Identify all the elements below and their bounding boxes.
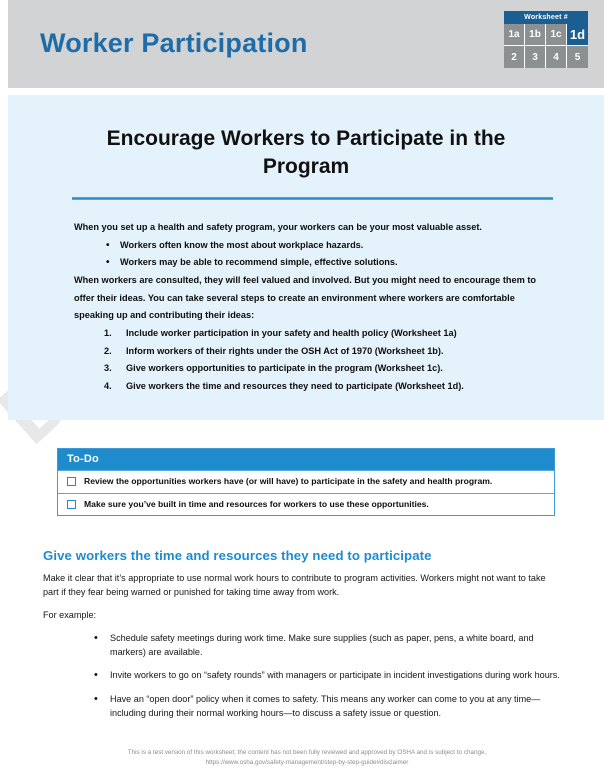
worksheet-heading: Encourage Workers to Participate in the … <box>64 125 548 180</box>
todo-item-label: Review the opportunities workers have (o… <box>84 476 492 487</box>
footer-url[interactable]: https://www.osha.gov/safety-management/s… <box>43 758 571 768</box>
list-item: Give workers opportunities to participat… <box>104 360 554 378</box>
todo-table-header: To-Do <box>58 449 554 470</box>
list-item: Schedule safety meetings during work tim… <box>94 631 571 659</box>
page-title: Worker Participation <box>40 28 308 59</box>
intro-lead-text: When you set up a health and safety prog… <box>74 219 554 237</box>
intro-bullet-list: Workers often know the most about workpl… <box>74 237 554 272</box>
checkbox-icon[interactable] <box>67 477 76 486</box>
table-row[interactable]: Review the opportunities workers have (o… <box>58 470 554 493</box>
worksheet-selector-header: Worksheet # <box>504 11 588 24</box>
worksheet-tab-1c[interactable]: 1c <box>546 24 567 46</box>
worksheet-number-selector[interactable]: Worksheet # 1a 1b 1c 1d 2 3 4 5 <box>504 11 588 68</box>
todo-item-label: Make sure you’ve built in time and resou… <box>84 499 429 510</box>
example-intro-text: For example: <box>43 608 557 622</box>
heading-divider <box>72 197 553 200</box>
table-row[interactable]: Make sure you’ve built in time and resou… <box>58 493 554 516</box>
list-item: Workers may be able to recommend simple,… <box>106 254 554 272</box>
intro-paragraph: When workers are consulted, they will fe… <box>74 272 554 325</box>
worksheet-tab-4[interactable]: 4 <box>546 46 567 68</box>
worksheet-tab-3[interactable]: 3 <box>525 46 546 68</box>
worksheet-page: DRAFT GUIDE Worker Participation Workshe… <box>0 0 612 771</box>
todo-table: To-Do Review the opportunities workers h… <box>57 448 555 516</box>
list-item: Include worker participation in your saf… <box>104 325 554 343</box>
list-item: Give workers the time and resources they… <box>104 378 554 396</box>
list-item: Inform workers of their rights under the… <box>104 343 554 361</box>
intro-numbered-list: Include worker participation in your saf… <box>74 325 554 396</box>
worksheet-tab-1b[interactable]: 1b <box>525 24 546 46</box>
intro-body: When you set up a health and safety prog… <box>74 219 554 396</box>
example-bullet-list: Schedule safety meetings during work tim… <box>43 631 571 719</box>
checkbox-icon[interactable] <box>67 500 76 509</box>
list-item: Have an “open door” policy when it comes… <box>94 692 571 720</box>
worksheet-selector-row-2[interactable]: 2 3 4 5 <box>504 46 588 68</box>
footer-disclaimer: This is a test version of this worksheet… <box>43 748 571 758</box>
page-footer: This is a test version of this worksheet… <box>43 748 571 768</box>
section-heading: Give workers the time and resources they… <box>43 548 571 563</box>
worksheet-tab-1a[interactable]: 1a <box>504 24 525 46</box>
guidance-section: Give workers the time and resources they… <box>43 548 571 729</box>
worksheet-tab-2[interactable]: 2 <box>504 46 525 68</box>
section-paragraph: Make it clear that it’s appropriate to u… <box>43 571 557 599</box>
list-item: Invite workers to go on “safety rounds” … <box>94 668 571 682</box>
worksheet-selector-row-1[interactable]: 1a 1b 1c 1d <box>504 24 588 46</box>
intro-panel: Encourage Workers to Participate in the … <box>8 95 604 420</box>
worksheet-tab-1d[interactable]: 1d <box>567 24 588 46</box>
list-item: Workers often know the most about workpl… <box>106 237 554 255</box>
worksheet-tab-5[interactable]: 5 <box>567 46 588 68</box>
